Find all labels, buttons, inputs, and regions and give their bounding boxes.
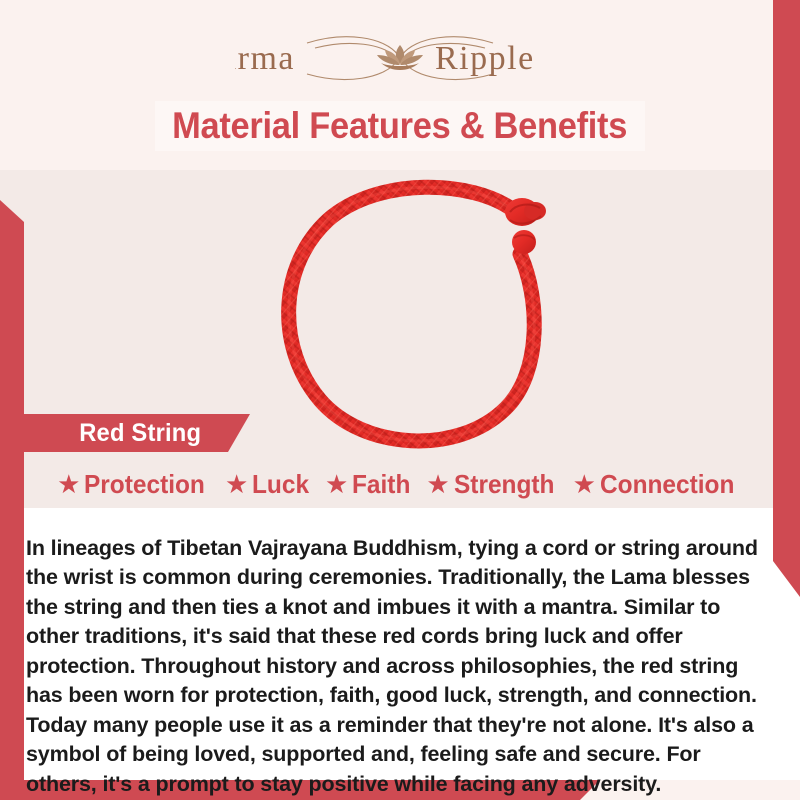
features-list: ★ Protection ★ Luck ★ Faith ★ Strength ★…: [24, 462, 776, 506]
feature-label: Faith: [352, 469, 410, 500]
bracelet-illustration: [258, 168, 588, 458]
decor-frame-left: [0, 200, 24, 800]
feature-item-luck: ★ Luck: [220, 469, 318, 500]
bracelet-knot: [505, 198, 546, 254]
star-icon: ★: [325, 471, 348, 497]
feature-label: Connection: [600, 469, 734, 500]
star-icon: ★: [57, 471, 80, 497]
decor-frame-right: [773, 0, 800, 597]
feature-label: Luck: [252, 469, 309, 500]
feature-label: Protection: [84, 469, 205, 500]
feature-label: Strength: [454, 469, 554, 500]
brand-name-left: Karma: [235, 40, 295, 77]
lotus-icon: [377, 45, 423, 70]
feature-item-protection: ★ Protection: [52, 469, 218, 500]
star-icon: ★: [573, 471, 596, 497]
brand-logo: Karma Ripple: [0, 26, 800, 90]
feature-item-connection: ★ Connection: [568, 469, 748, 500]
product-image: [258, 168, 588, 458]
feature-item-strength: ★ Strength: [421, 469, 565, 500]
brand-logo-svg: Karma Ripple: [235, 27, 565, 89]
material-name: Red String: [79, 419, 201, 448]
material-ribbon: Red String: [24, 414, 250, 452]
title-banner: Material Features & Benefits: [155, 101, 645, 151]
star-icon: ★: [225, 471, 248, 497]
star-icon: ★: [426, 471, 449, 497]
description-text: In lineages of Tibetan Vajrayana Buddhis…: [26, 534, 776, 800]
feature-item-faith: ★ Faith: [320, 469, 419, 500]
brand-name-right: Ripple: [435, 40, 535, 77]
page-title: Material Features & Benefits: [173, 105, 628, 147]
infographic-page: Karma Ripple Material Features & Benefit…: [0, 0, 800, 800]
